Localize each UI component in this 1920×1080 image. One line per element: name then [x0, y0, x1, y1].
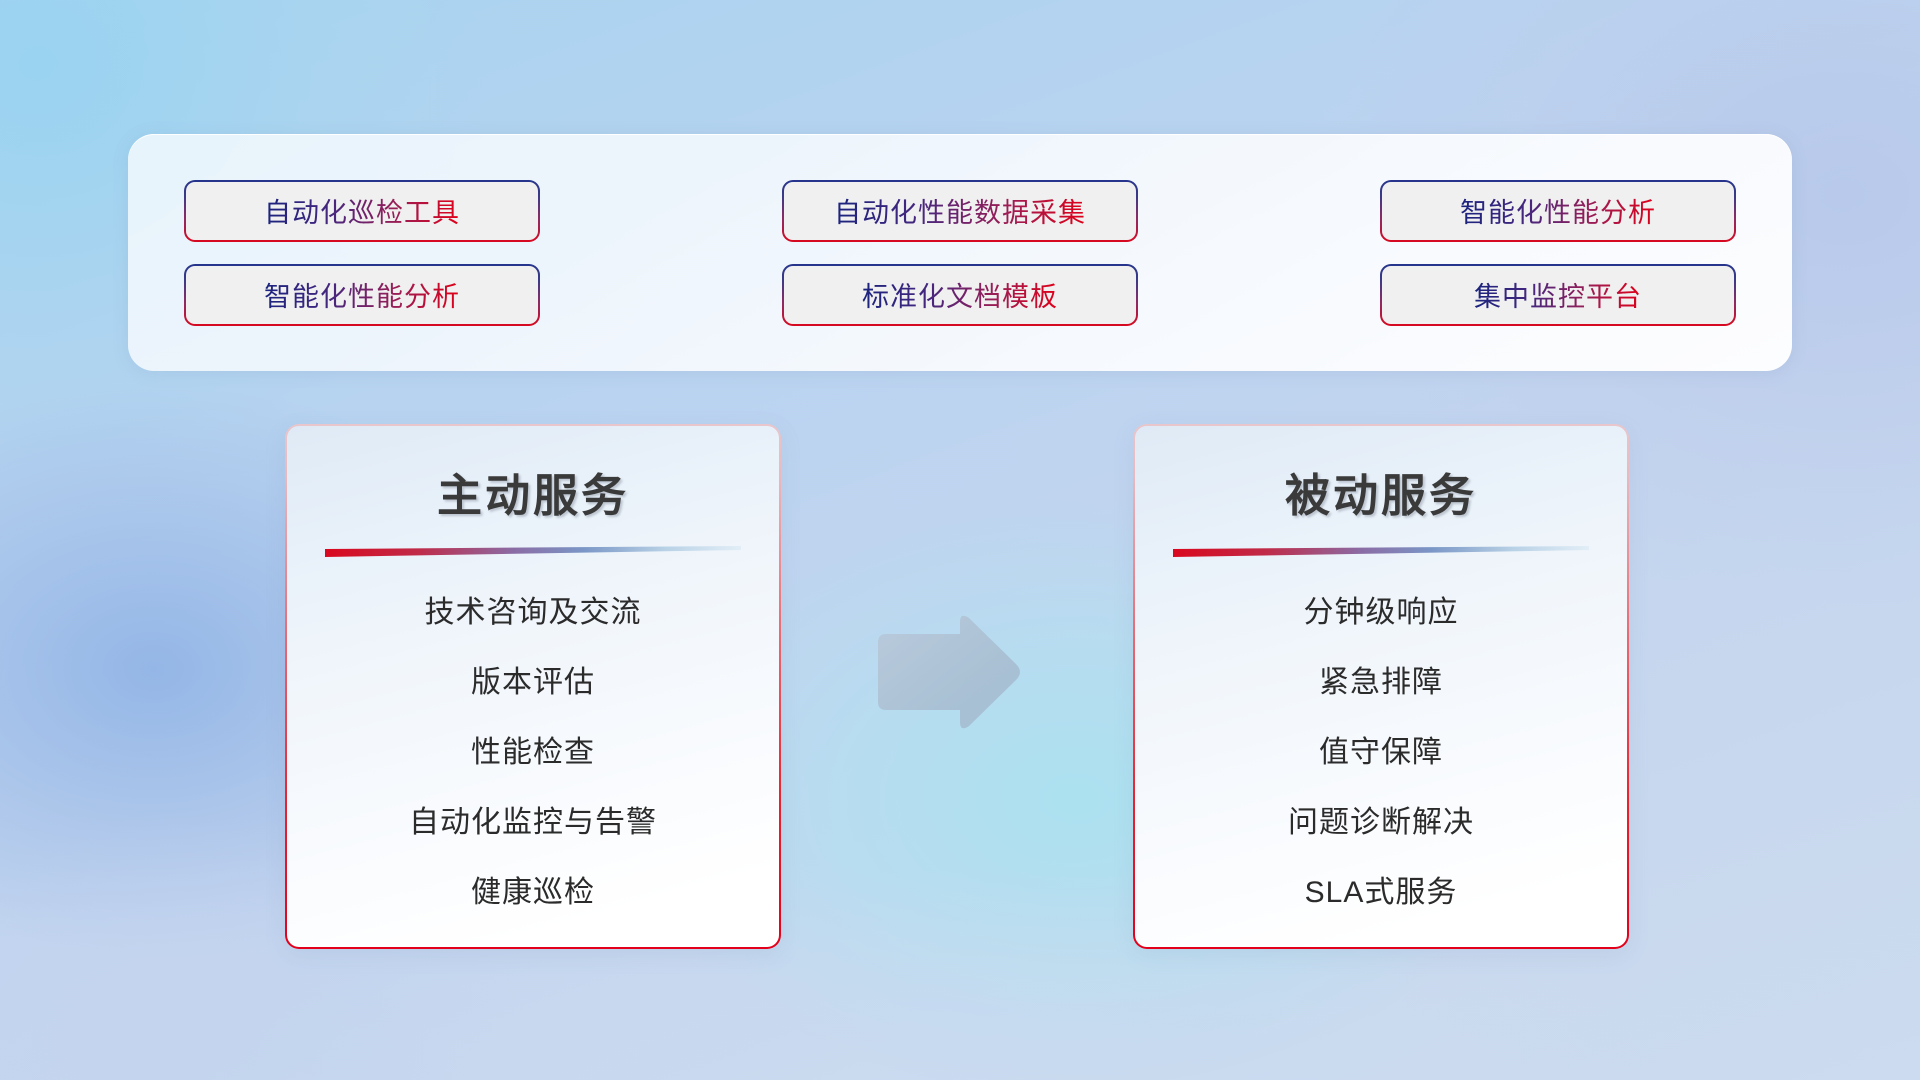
service-card-reactive: 被动服务 分钟级响应 紧急排障 值守保障 — [1133, 424, 1629, 949]
list-item: 健康巡检 — [471, 867, 595, 911]
capability-pill-label: 自动化性能数据采集 — [834, 191, 1086, 230]
card-item-list: 技术咨询及交流 版本评估 性能检查 自动化监控与告警 健康巡检 — [287, 587, 779, 911]
capabilities-column-3: 智能化性能分析 集中监控平台 — [1380, 180, 1736, 326]
list-item: 值守保障 — [1319, 727, 1443, 771]
card-divider — [325, 546, 741, 557]
card-title: 主动服务 — [437, 459, 629, 524]
list-item: 自动化监控与告警 — [409, 797, 657, 841]
list-item: 版本评估 — [471, 657, 595, 701]
list-item: 性能检查 — [471, 727, 595, 771]
capability-pill-standardized-document-template[interactable]: 标准化文档模板 — [782, 264, 1138, 326]
list-item: 技术咨询及交流 — [425, 587, 642, 631]
capability-pill-label: 标准化文档模板 — [862, 275, 1058, 314]
card-title: 被动服务 — [1285, 459, 1477, 524]
list-item: 问题诊断解决 — [1288, 797, 1474, 841]
capability-pill-automation-inspection-tool[interactable]: 自动化巡检工具 — [184, 180, 540, 242]
slide-canvas: 自动化巡检工具 智能化性能分析 自动化性能数据采集 标准化文档模板 智能化性能分… — [0, 0, 1920, 1080]
list-item: SLA式服务 — [1305, 867, 1458, 911]
capability-pill-label: 集中监控平台 — [1474, 275, 1642, 314]
capability-pill-label: 智能化性能分析 — [1460, 191, 1656, 230]
list-item: 分钟级响应 — [1304, 587, 1459, 631]
capabilities-panel: 自动化巡检工具 智能化性能分析 自动化性能数据采集 标准化文档模板 智能化性能分… — [128, 134, 1792, 371]
capability-pill-label: 智能化性能分析 — [264, 275, 460, 314]
card-divider — [1173, 546, 1589, 557]
capability-pill-centralized-monitoring-platform[interactable]: 集中监控平台 — [1380, 264, 1736, 326]
capability-pill-intelligent-performance-analysis-b[interactable]: 智能化性能分析 — [1380, 180, 1736, 242]
capability-pill-intelligent-performance-analysis-a[interactable]: 智能化性能分析 — [184, 264, 540, 326]
capability-pill-automated-performance-data-collection[interactable]: 自动化性能数据采集 — [782, 180, 1138, 242]
capability-pill-label: 自动化巡检工具 — [264, 191, 460, 230]
list-item: 紧急排障 — [1319, 657, 1443, 701]
service-card-proactive: 主动服务 技术咨询及交流 版本评估 性能检查 — [285, 424, 781, 949]
capabilities-column-1: 自动化巡检工具 智能化性能分析 — [184, 180, 540, 326]
capabilities-column-2: 自动化性能数据采集 标准化文档模板 — [782, 180, 1138, 326]
flow-arrow-right-icon — [866, 612, 1024, 734]
card-item-list: 分钟级响应 紧急排障 值守保障 问题诊断解决 SLA式服务 — [1135, 587, 1627, 911]
